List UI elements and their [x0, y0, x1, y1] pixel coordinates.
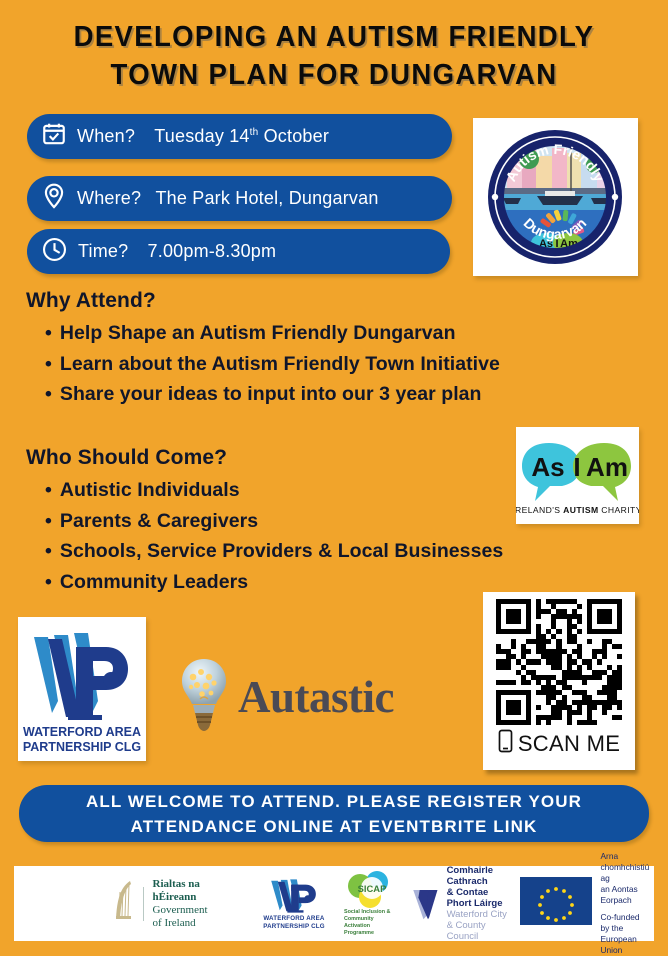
- government-of-ireland-logo: Rialtas na hÉireann Government of Irelan…: [112, 878, 208, 930]
- list-item: Parents & Caregivers: [45, 506, 503, 537]
- why-attend-heading: Why Attend?: [26, 289, 156, 313]
- why-attend-list: Help Shape an Autism Friendly Dungarvan …: [45, 318, 500, 410]
- asiam-logo-artwork: As I Am IRELAND'S AUTISM CHARITY: [516, 427, 639, 524]
- autism-friendly-dungarvan-badge: As I Am Autism Friendly Dungarvan: [473, 118, 638, 276]
- council-line-2: & Contae Phort Láirge: [447, 887, 511, 909]
- qr-code-icon[interactable]: [496, 599, 622, 725]
- sicap-text: Social Inclusion & Community Activation …: [344, 909, 398, 937]
- eu-flag-icon: [520, 877, 592, 930]
- mobile-phone-icon: [498, 729, 513, 758]
- waterford-council-logo: Comhairle Cathrach & Contae Phort Láirge…: [412, 865, 510, 942]
- sicap-line-2: Community Activation: [344, 916, 374, 929]
- qr-code-card[interactable]: SCAN ME: [483, 592, 635, 770]
- scan-me-row: SCAN ME: [498, 729, 620, 758]
- wap-line-2: PARTNERSHIP CLG: [23, 740, 141, 754]
- council-mark: [412, 876, 443, 932]
- detail-time-text: Time? 7.00pm-8.30pm: [78, 241, 276, 262]
- detail-time-value: 7.00pm-8.30pm: [148, 241, 277, 261]
- list-item: Community Leaders: [45, 567, 503, 598]
- footer-wap-logo: WATERFORD AREA PARTNERSHIP CLG: [262, 877, 326, 931]
- autastic-logo: Autastic: [176, 655, 394, 738]
- asiam-i: I: [573, 452, 580, 482]
- page-title: DEVELOPING AN AUTISM FRIENDLY TOWN PLAN …: [17, 18, 652, 94]
- eu-line-4: European Union: [600, 934, 649, 956]
- eu-line-3: Co-funded by the: [600, 912, 649, 934]
- gov-text: Rialtas na hÉireann Government of Irelan…: [153, 878, 208, 930]
- calendar-check-icon: [41, 121, 67, 152]
- who-should-come-heading: Who Should Come?: [26, 446, 227, 470]
- council-line-4: & County Council: [447, 920, 511, 942]
- detail-where-text: Where? The Park Hotel, Dungarvan: [77, 188, 379, 209]
- wap-logo-artwork: WATERFORD AREA PARTNERSHIP CLG: [18, 617, 146, 761]
- footer-wap-line-2: PARTNERSHIP CLG: [263, 923, 325, 930]
- wap-line-1: WATERFORD AREA: [23, 725, 141, 739]
- detail-where-value: The Park Hotel, Dungarvan: [155, 188, 378, 208]
- poster-root: DEVELOPING AN AUTISM FRIENDLY TOWN PLAN …: [0, 0, 668, 951]
- autastic-wordmark: Autastic: [238, 671, 394, 723]
- list-item: Schools, Service Providers & Local Busin…: [45, 536, 503, 567]
- asiam-charity-logo: As I Am IRELAND'S AUTISM CHARITY: [516, 427, 639, 524]
- title-line-2: TOWN PLAN FOR DUNGARVAN: [17, 56, 652, 94]
- gov-line-2: Government of Ireland: [153, 904, 208, 930]
- detail-where-label: Where?: [77, 188, 141, 208]
- detail-where: Where? The Park Hotel, Dungarvan: [27, 176, 452, 221]
- list-item: Learn about the Autism Friendly Town Ini…: [45, 349, 500, 380]
- council-text: Comhairle Cathrach & Contae Phort Láirge…: [447, 865, 511, 942]
- detail-when-label: When?: [77, 126, 135, 146]
- council-line-3: Waterford City: [447, 909, 511, 920]
- sicap-mark: SICAP: [344, 871, 398, 909]
- detail-time: Time? 7.00pm-8.30pm: [27, 229, 450, 274]
- list-item: Autistic Individuals: [45, 475, 503, 506]
- clock-icon: [41, 236, 68, 268]
- sicap-logo: SICAP Social Inclusion & Community Activ…: [344, 871, 398, 937]
- footer-wap-mark: [262, 877, 326, 915]
- eu-line-2: an Aontas Eorpach: [600, 884, 649, 906]
- irish-harp-icon: [112, 878, 134, 929]
- waterford-area-partnership-logo: WATERFORD AREA PARTNERSHIP CLG: [18, 617, 146, 761]
- footer-wap-line-1: WATERFORD AREA: [263, 915, 324, 922]
- title-line-1: DEVELOPING AN AUTISM FRIENDLY: [17, 18, 652, 56]
- detail-when: When? Tuesday 14th October: [27, 114, 452, 159]
- asiam-tagline: IRELAND'S AUTISM CHARITY: [516, 505, 639, 515]
- gov-line-1: Rialtas na hÉireann: [153, 878, 208, 904]
- detail-when-text: When? Tuesday 14th October: [77, 126, 329, 147]
- asiam-am: Am: [586, 452, 628, 482]
- footer-wap-text: WATERFORD AREA PARTNERSHIP CLG: [263, 915, 325, 931]
- banner-line-2: ATTENDANCE ONLINE AT EVENTBRITE LINK: [131, 814, 538, 839]
- lightbulb-icon: [176, 655, 232, 738]
- badge-artwork: As I Am Autism Friendly Dungarvan: [473, 118, 638, 276]
- asiam-as: As: [531, 452, 564, 482]
- who-should-come-list: Autistic Individuals Parents & Caregiver…: [45, 475, 503, 597]
- register-banner: ALL WELCOME TO ATTEND. PLEASE REGISTER Y…: [19, 785, 649, 842]
- eu-line-1: Arna chomhchistiú ag: [600, 851, 649, 884]
- detail-time-label: Time?: [78, 241, 128, 261]
- sicap-line-3: Programme: [344, 930, 374, 936]
- scan-me-label: SCAN ME: [518, 731, 620, 757]
- footer-logos: Rialtas na hÉireann Government of Irelan…: [14, 866, 654, 941]
- list-item: Help Shape an Autism Friendly Dungarvan: [45, 318, 500, 349]
- banner-line-1: ALL WELCOME TO ATTEND. PLEASE REGISTER Y…: [86, 789, 582, 814]
- location-pin-icon: [41, 182, 67, 215]
- eu-text: Arna chomhchistiú ag an Aontas Eorpach C…: [600, 851, 649, 956]
- council-line-1: Comhairle Cathrach: [447, 865, 511, 887]
- sicap-title: SICAP: [358, 883, 387, 894]
- eu-funding-logo: Arna chomhchistiú ag an Aontas Eorpach C…: [520, 851, 649, 956]
- detail-when-value: Tuesday 14th October: [154, 126, 329, 146]
- list-item: Share your ideas to input into our 3 yea…: [45, 379, 500, 410]
- sicap-line-1: Social Inclusion &: [344, 909, 390, 915]
- footer-divider: [143, 887, 144, 921]
